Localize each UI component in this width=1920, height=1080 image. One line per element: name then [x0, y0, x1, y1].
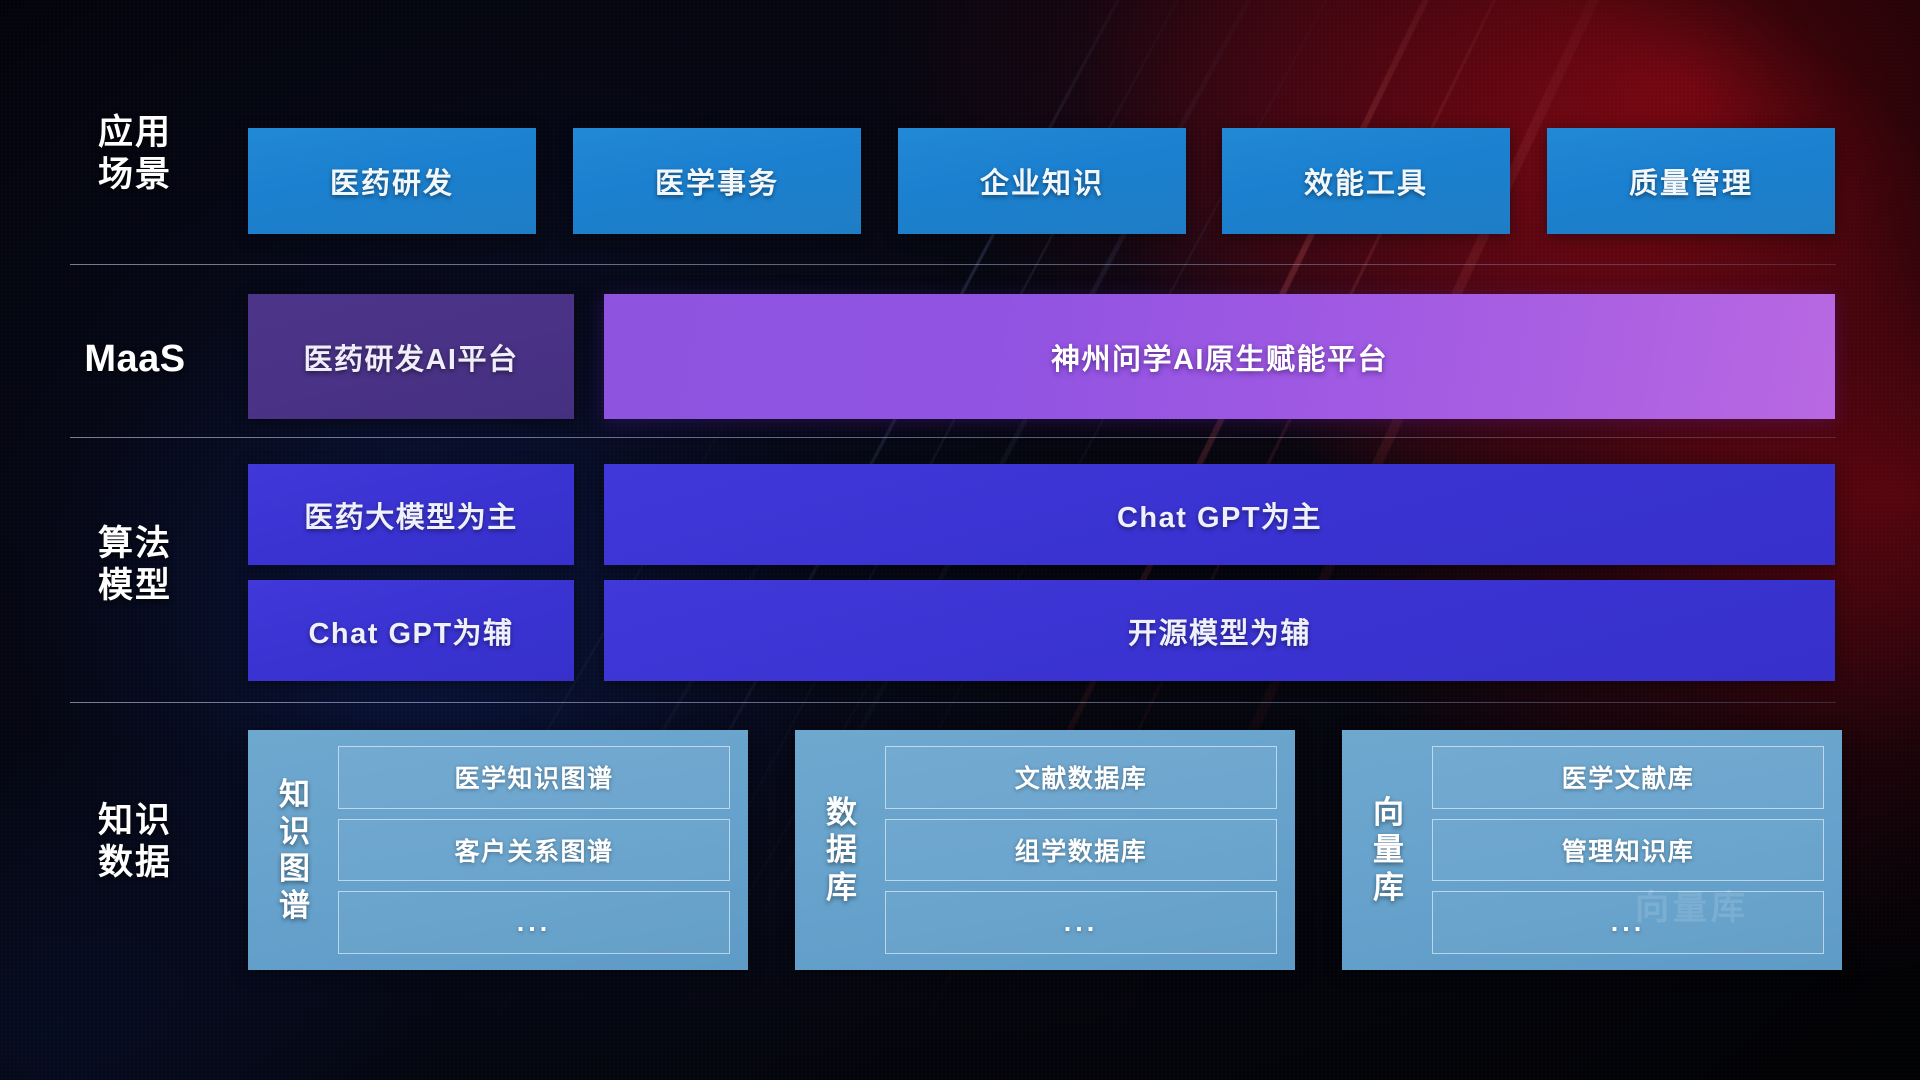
knowledge-block-vector-database[interactable]: 向 量 库 医学文献库 管理知识库 ...: [1342, 730, 1842, 970]
algo-box-right-2[interactable]: 开源模型为辅: [604, 580, 1835, 681]
knowledge-block-database[interactable]: 数 据 库 文献数据库 组学数据库 ...: [795, 730, 1295, 970]
knowledge-block-items: 文献数据库 组学数据库 ...: [885, 746, 1277, 954]
row-label-maas: MaaS: [70, 337, 200, 383]
row-label-algorithm-model: 算法 模型: [70, 523, 200, 607]
divider-1: [70, 264, 1836, 265]
app-scenario-box-1[interactable]: 医药研发: [248, 128, 536, 234]
architecture-diagram: 应用 场景 医药研发 医学事务 企业知识 效能工具 质量管理 MaaS 医药研发…: [0, 0, 1920, 1080]
knowledge-block-title: 知 识 图 谱: [266, 746, 324, 954]
app-scenario-box-3[interactable]: 企业知识: [898, 128, 1186, 234]
app-scenario-box-4[interactable]: 效能工具: [1222, 128, 1510, 234]
row-label-application-scenario: 应用 场景: [70, 112, 200, 196]
divider-2: [70, 437, 1836, 438]
algo-box-left-1[interactable]: 医药大模型为主: [248, 464, 574, 565]
maas-box-drug-rd-ai-platform[interactable]: 医药研发AI平台: [248, 294, 574, 419]
knowledge-item[interactable]: 组学数据库: [885, 819, 1277, 882]
knowledge-item[interactable]: 客户关系图谱: [338, 819, 730, 882]
knowledge-item-more[interactable]: ...: [885, 891, 1277, 954]
divider-3: [70, 702, 1836, 703]
knowledge-item-more[interactable]: ...: [1432, 891, 1824, 954]
knowledge-block-title: 向 量 库: [1360, 746, 1418, 954]
algo-box-right-1[interactable]: Chat GPT为主: [604, 464, 1835, 565]
knowledge-block-knowledge-graph[interactable]: 知 识 图 谱 医学知识图谱 客户关系图谱 ...: [248, 730, 748, 970]
knowledge-item[interactable]: 医学知识图谱: [338, 746, 730, 809]
knowledge-item[interactable]: 文献数据库: [885, 746, 1277, 809]
knowledge-block-items: 医学文献库 管理知识库 ...: [1432, 746, 1824, 954]
app-scenario-box-5[interactable]: 质量管理: [1547, 128, 1835, 234]
knowledge-item[interactable]: 医学文献库: [1432, 746, 1824, 809]
knowledge-item-more[interactable]: ...: [338, 891, 730, 954]
knowledge-item[interactable]: 管理知识库: [1432, 819, 1824, 882]
algo-box-left-2[interactable]: Chat GPT为辅: [248, 580, 574, 681]
knowledge-block-title: 数 据 库: [813, 746, 871, 954]
knowledge-block-items: 医学知识图谱 客户关系图谱 ...: [338, 746, 730, 954]
app-scenario-box-2[interactable]: 医学事务: [573, 128, 861, 234]
maas-box-shenzhou-wenxue-platform[interactable]: 神州问学AI原生赋能平台: [604, 294, 1835, 419]
row-label-knowledge-data: 知识 数据: [70, 800, 200, 884]
